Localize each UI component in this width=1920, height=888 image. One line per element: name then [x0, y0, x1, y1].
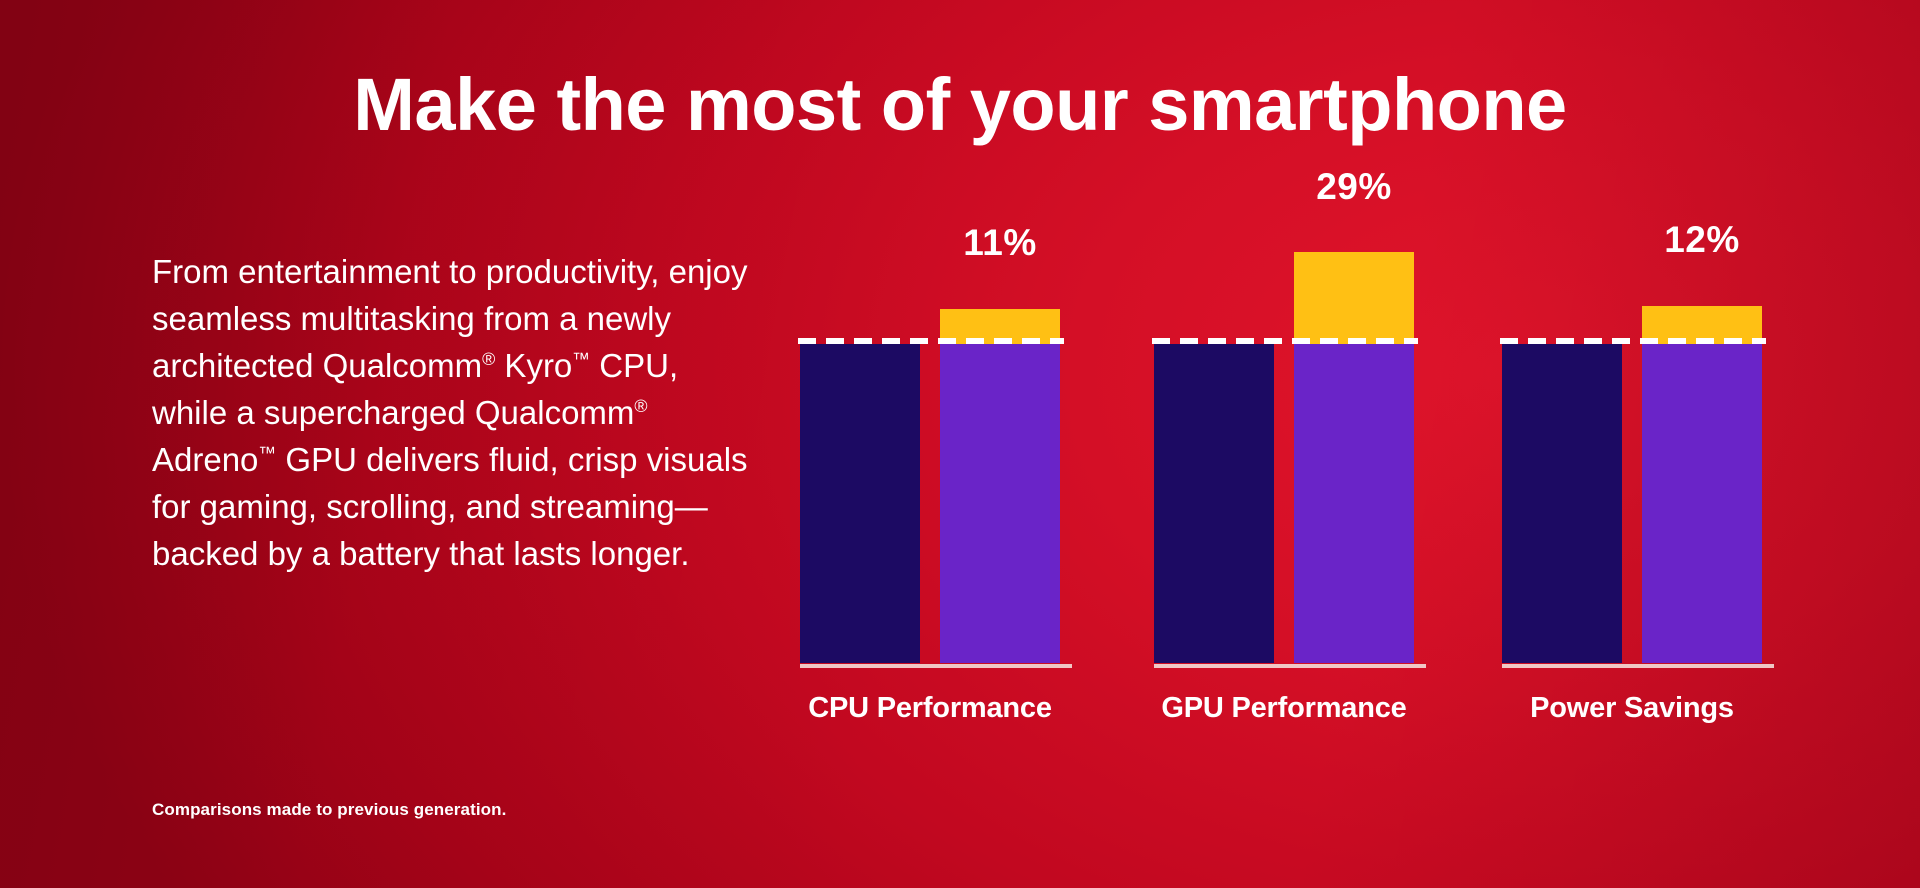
plot-area: 29% [1142, 170, 1442, 668]
page-title: Make the most of your smartphone [0, 62, 1920, 148]
value-label: 11% [940, 222, 1060, 264]
footnote-text: Comparisons made to previous generation. [152, 800, 506, 820]
bar-previous-generation [800, 344, 920, 663]
value-label: 12% [1642, 219, 1762, 261]
plot-area: 12% [1490, 170, 1790, 668]
bar-current-generation [1294, 344, 1414, 663]
bar-group-gpu-performance: 29% GPU Performance [1142, 170, 1442, 730]
bar-previous-generation [1154, 344, 1274, 663]
value-label: 29% [1294, 166, 1414, 208]
category-label: Power Savings [1480, 692, 1784, 725]
bar-chart: 11% CPU Performance 29% GPU Performance [770, 170, 1830, 730]
bar-current-generation [940, 344, 1060, 663]
reference-dashed-line [1500, 338, 1766, 344]
bar-improvement-cap [1294, 252, 1414, 344]
axis-baseline-rule [1502, 664, 1774, 668]
axis-baseline-rule [800, 664, 1072, 668]
body-paragraph: From entertainment to productivity, enjo… [152, 248, 752, 577]
reference-dashed-line [1152, 338, 1418, 344]
category-label: CPU Performance [778, 692, 1082, 725]
category-label: GPU Performance [1132, 692, 1436, 725]
axis-baseline-rule [1154, 664, 1426, 668]
reference-dashed-line [798, 338, 1064, 344]
bar-previous-generation [1502, 344, 1622, 663]
poster-canvas: Make the most of your smartphone From en… [0, 0, 1920, 888]
plot-area: 11% [788, 170, 1088, 668]
bar-current-generation [1642, 344, 1762, 663]
bar-group-cpu-performance: 11% CPU Performance [788, 170, 1088, 730]
bar-group-power-savings: 12% Power Savings [1490, 170, 1790, 730]
